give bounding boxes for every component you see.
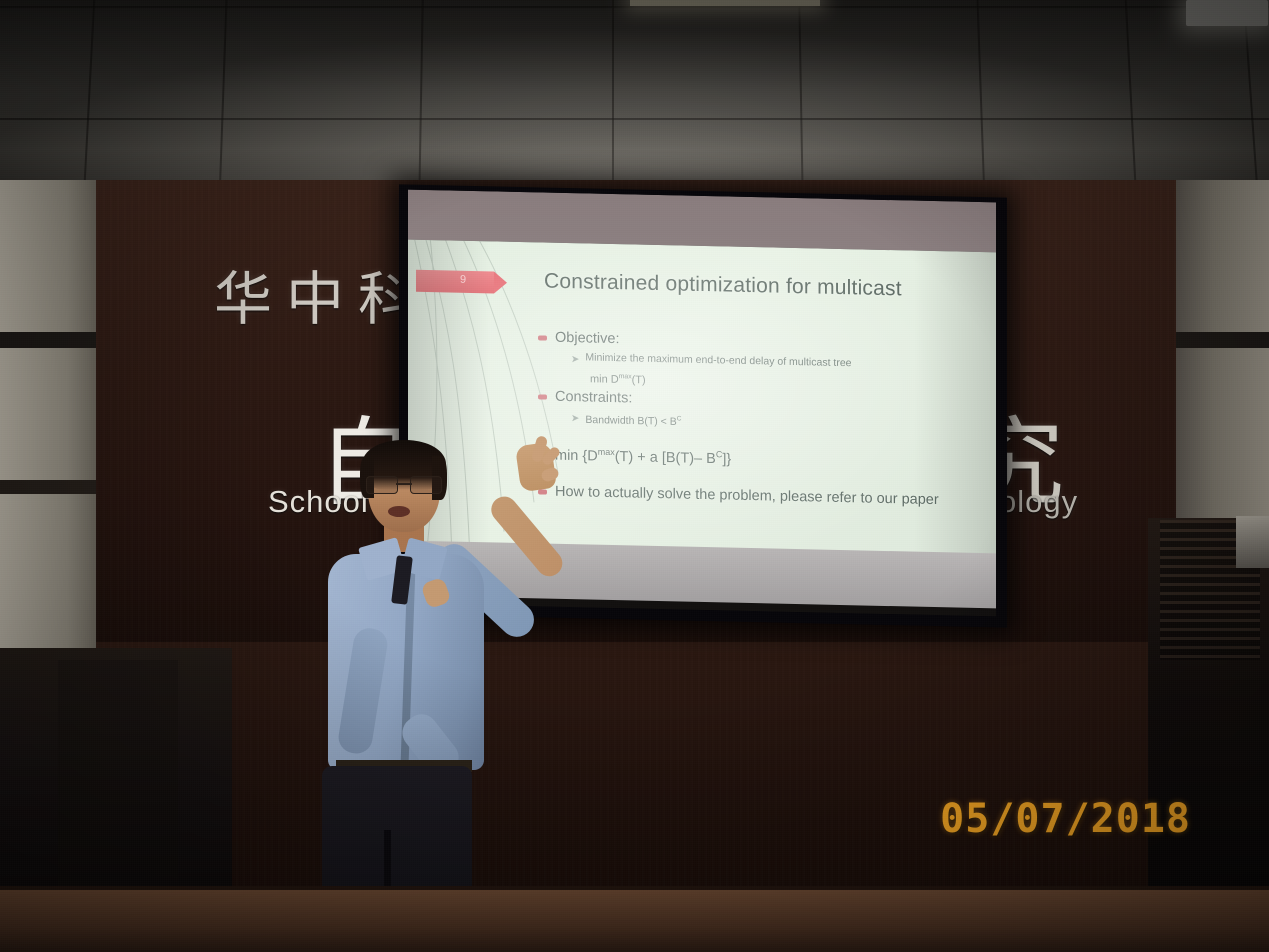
wall-sign-chinese-top: 华中科 xyxy=(214,252,430,336)
wall-highlight-right xyxy=(1236,516,1269,568)
presenter xyxy=(300,430,560,952)
wall-trim-right xyxy=(1176,332,1269,348)
slide-number-label: 9 xyxy=(460,274,466,286)
min-dmax-superscript: max xyxy=(619,373,632,380)
slide-number-banner xyxy=(416,270,494,294)
formula-superscript-max: max xyxy=(598,447,615,457)
formula-part-2: (T) + a [B(T)– B xyxy=(615,449,716,467)
sub-bullet-label: Bandwidth B(T) < BC xyxy=(585,409,681,430)
wall-trim-left-upper xyxy=(0,332,96,348)
slide-body: Objective: ➤ Minimize the maximum end-to… xyxy=(538,327,978,513)
bandwidth-superscript: C xyxy=(677,415,682,422)
wall-trim-left-lower xyxy=(0,480,96,494)
photograph-lecture-scene: 华中科 自 究 School o chnology xyxy=(0,0,1269,952)
arrow-bullet-icon: ➤ xyxy=(571,353,579,367)
glasses-lens-left xyxy=(366,476,398,494)
presenter-glasses xyxy=(366,476,442,492)
arrow-bullet-icon: ➤ xyxy=(571,412,579,426)
min-dmax-prefix: min D xyxy=(590,373,619,386)
presenter-mouth xyxy=(388,506,410,517)
wall-panel-left xyxy=(0,180,96,660)
lectern-column xyxy=(58,660,178,900)
wall-panel-right xyxy=(1176,180,1269,530)
camera-date-stamp: 05/07/2018 xyxy=(940,796,1191,842)
bullet-square-icon xyxy=(538,335,547,340)
bullet-label: Objective: xyxy=(555,328,619,349)
min-dmax-suffix: (T) xyxy=(632,374,646,386)
glasses-lens-right xyxy=(410,476,442,494)
bandwidth-prefix: Bandwidth B(T) < B xyxy=(585,414,676,428)
ceiling-shading xyxy=(0,0,1269,200)
bullet-square-icon xyxy=(538,394,547,399)
slide-formula: min {Dmax(T) + a [B(T)– BC]} xyxy=(555,441,731,470)
sub-bullet-label: Minimize the maximum end-to-end delay of… xyxy=(585,350,851,371)
formula-part-1: min {D xyxy=(555,448,598,465)
presenter-forearm-raised xyxy=(486,491,568,581)
ceiling xyxy=(0,0,1269,200)
bullet-label: Constraints: xyxy=(555,386,632,408)
formula-part-3: ]} xyxy=(722,451,731,467)
floor xyxy=(0,890,1269,952)
